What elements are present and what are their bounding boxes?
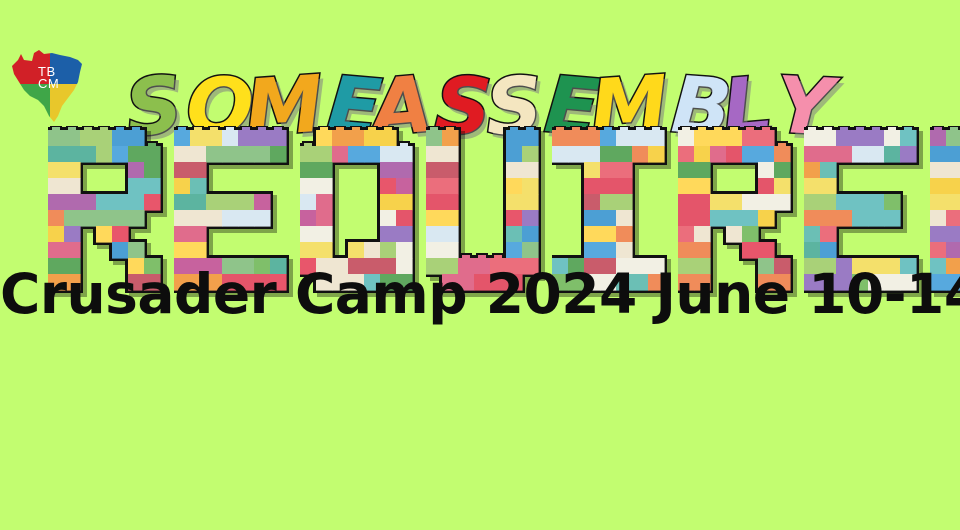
subtitle-camp-dates: Crusader Camp 2024 June 10-14 bbox=[0, 262, 960, 326]
headline-required bbox=[0, 126, 960, 256]
poster-canvas: TB CM SOMEASSEMBLY Crusader Camp 2024 Ju… bbox=[0, 0, 960, 530]
